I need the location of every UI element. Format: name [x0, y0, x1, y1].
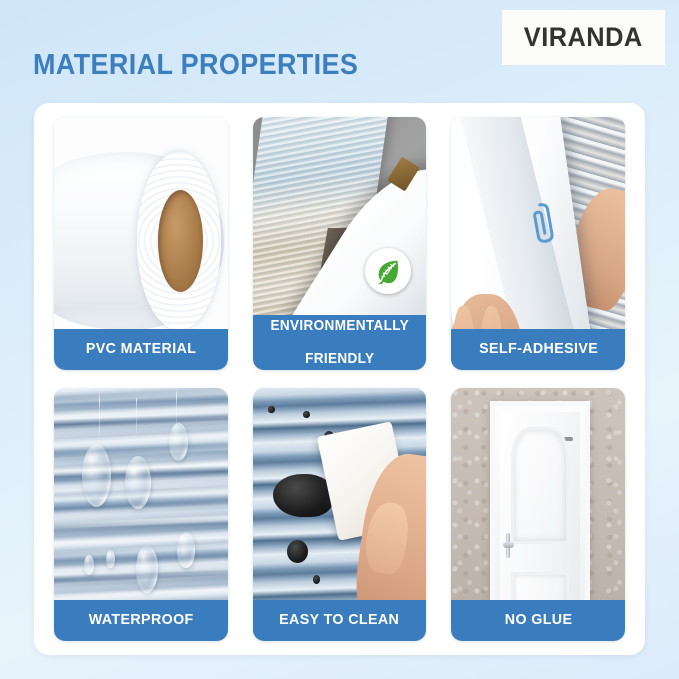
stain-mark — [273, 474, 332, 517]
stain-mark — [303, 411, 310, 419]
feature-card-pvc-material[interactable]: PVC MATERIAL — [54, 117, 228, 370]
brand-name: VIRANDA — [524, 22, 643, 53]
feature-label-line-1: ENVIRONMENTALLY — [270, 318, 409, 334]
feature-label-environmentally-friendly: ENVIRONMENTALLY FRIENDLY — [253, 315, 427, 370]
feature-card-self-adhesive[interactable]: SELF-ADHESIVE — [451, 117, 625, 370]
feature-label-waterproof: WATERPROOF — [54, 600, 228, 641]
droplet-trail — [176, 391, 177, 437]
feature-label-text: ENVIRONMENTALLY FRIENDLY — [267, 318, 413, 367]
water-droplet — [106, 550, 115, 568]
features-grid: PVC MATERIAL — [54, 117, 625, 641]
leaf-icon — [365, 248, 411, 294]
feature-label-text: WATERPROOF — [88, 612, 193, 628]
feature-label-text: PVC MATERIAL — [86, 341, 196, 357]
feature-label-text: EASY TO CLEAN — [279, 612, 399, 628]
water-droplet — [84, 555, 94, 575]
feature-label-no-glue: NO GLUE — [451, 600, 625, 641]
door-handle-icon — [503, 533, 513, 558]
page-title: MATERIAL PROPERTIES — [33, 49, 358, 82]
feature-card-no-glue[interactable]: NO GLUE — [451, 388, 625, 641]
feature-card-easy-to-clean[interactable]: EASY TO CLEAN — [253, 388, 427, 641]
water-droplet — [169, 423, 188, 461]
feature-label-text: NO GLUE — [504, 612, 572, 628]
door-upper-panel-shape — [511, 427, 568, 544]
features-panel: PVC MATERIAL — [34, 103, 645, 655]
feature-label-pvc-material: PVC MATERIAL — [54, 329, 228, 370]
droplet-trail — [136, 398, 137, 449]
water-droplet — [177, 532, 194, 567]
feature-label-line-2: FRIENDLY — [270, 351, 409, 367]
feature-card-environmentally-friendly[interactable]: ENVIRONMENTALLY FRIENDLY — [253, 117, 427, 370]
brand-logo-box: VIRANDA — [502, 10, 665, 65]
stain-mark — [313, 575, 320, 584]
feature-label-text: SELF-ADHESIVE — [479, 341, 598, 357]
feature-label-easy-to-clean: EASY TO CLEAN — [253, 600, 427, 641]
stain-mark — [287, 540, 308, 563]
water-droplet — [125, 456, 151, 509]
droplet-trail — [99, 393, 100, 459]
water-droplet — [82, 444, 112, 507]
feature-label-self-adhesive: SELF-ADHESIVE — [451, 329, 625, 370]
feature-card-waterproof[interactable]: WATERPROOF — [54, 388, 228, 641]
water-droplet — [136, 545, 159, 593]
door-frame-shape — [490, 401, 591, 616]
stain-mark — [268, 406, 275, 414]
door-slab-shape — [500, 412, 580, 607]
pvc-cardboard-core-shape — [158, 190, 203, 291]
